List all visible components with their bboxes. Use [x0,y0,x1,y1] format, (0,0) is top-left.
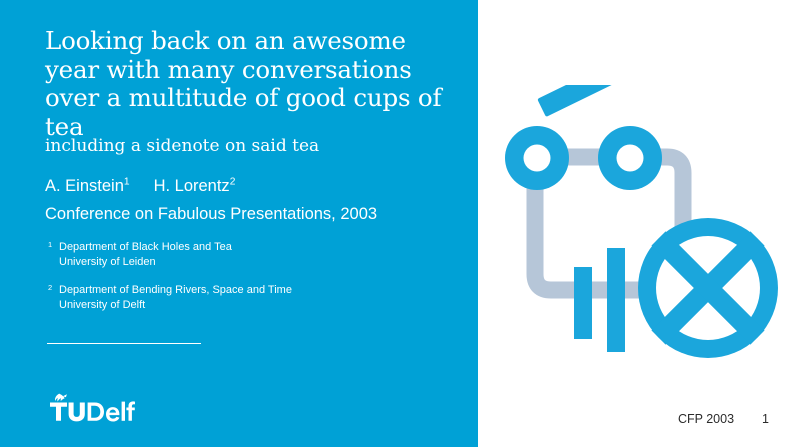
electrical-schematic-illustration [490,85,782,370]
pivot-ring [598,126,662,190]
tu-delft-wordmark-light [88,401,135,421]
affiliation-marker: 1 [48,238,52,253]
affiliation-institution: University of Leiden [59,255,458,270]
affiliation-item: 2 Department of Bending Rivers, Space an… [48,283,458,312]
title-panel: Looking back on an awesome year with man… [0,0,478,447]
slide-footer: CFP 2003 1 [678,412,769,426]
affiliation-list: 1 Department of Black Holes and Tea Univ… [48,240,458,326]
author-entry: H. Lorentz2 [154,177,236,195]
affiliation-institution: University of Delft [59,298,458,313]
wheel-cross-circle [638,218,778,358]
presentation-title-slide: Looking back on an awesome year with man… [0,0,794,447]
author-entry: A. Einstein1 [45,177,130,195]
footer-conference-label: CFP 2003 [678,412,734,426]
page-subtitle: including a sidenote on said tea [45,136,465,157]
capacitor-plates [574,248,625,352]
conference-line: Conference on Fabulous Presentations, 20… [45,204,377,224]
affiliation-department: Department of Black Holes and Tea [59,241,232,253]
author-name: A. Einstein [45,177,124,195]
prometheus-flame-icon [55,394,67,402]
tu-delft-wordmark-bold [50,403,85,422]
author-affiliation-marker: 2 [230,177,236,188]
tu-delft-logo-mark [49,392,135,426]
page-title: Looking back on an awesome year with man… [45,27,445,141]
artwork-panel: CFP 2003 1 [478,0,794,447]
affiliation-department: Department of Bending Rivers, Space and … [59,284,292,296]
affiliation-item: 1 Department of Black Holes and Tea Univ… [48,240,458,269]
author-list: A. Einstein1H. Lorentz2 [45,176,235,196]
footer-page-number: 1 [762,412,769,426]
affiliation-marker: 2 [48,281,52,296]
author-affiliation-marker: 1 [124,177,130,188]
author-name: H. Lorentz [154,177,230,195]
divider-rule [47,343,201,344]
tu-delft-logo [49,392,135,426]
